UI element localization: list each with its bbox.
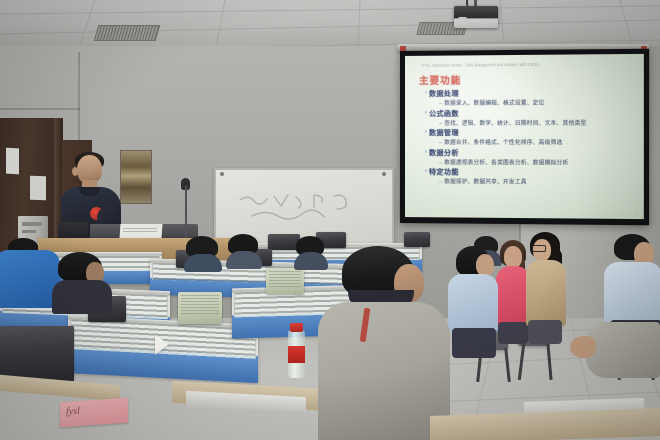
- slide-bullet-item: ›公式函数 – 查找、逻辑、数学、统计、日期时间、文本、其他类型: [425, 108, 638, 127]
- slide-header-text: SPSS Application Series · Data Managemen…: [421, 61, 633, 68]
- slide-bullet-item: ›数据分析 – 数据透视表分析、各类图表分析、数据模拟分析: [425, 148, 638, 167]
- classroom-photo: SPSS Application Series · Data Managemen…: [0, 0, 660, 440]
- torso: [604, 262, 660, 326]
- monitor: [404, 232, 430, 247]
- slide-bullet-item: ›数据管理 – 数据合并、条件格式、个性化排序、高级筛选: [425, 128, 638, 146]
- wall-art-panel: [120, 150, 152, 204]
- head: [504, 246, 522, 268]
- pc-tower-vent: [22, 222, 42, 226]
- legs: [452, 328, 496, 358]
- folded-paper: [155, 335, 169, 355]
- whiteboard-clip: [220, 172, 224, 176]
- student-blue-jacket-left: [0, 248, 60, 308]
- projection-screen: SPSS Application Series · Data Managemen…: [400, 49, 649, 226]
- monitor-screen-content: [181, 295, 219, 314]
- slide-bullet-item: ›特定功能 – 数据保护、数据共享、开发工具: [425, 167, 638, 186]
- bullet-detail: – 数据录入、数据编辑、格式设置、定位: [439, 98, 637, 107]
- slide-bullet-list: ›数据处理 – 数据录入、数据编辑、格式设置、定位 ›公式函数 – 查找、逻辑、…: [425, 88, 638, 188]
- bullet-heading: ›公式函数: [425, 108, 638, 119]
- whiteboard-writing: [234, 190, 364, 224]
- bullet-heading: ›数据管理: [425, 128, 638, 138]
- student-gray-suit-center: [320, 246, 450, 440]
- posted-notice: [6, 148, 19, 175]
- monitor-screen-content: [269, 271, 301, 287]
- monitor-powered-on[interactable]: [178, 292, 222, 324]
- whiteboard-clip: [382, 172, 386, 176]
- legs: [528, 320, 562, 344]
- bottle-label: [288, 346, 305, 363]
- sticky-note-text: fysl: [66, 406, 80, 418]
- monitor-foreground[interactable]: [0, 326, 74, 382]
- bullet-detail: – 数据保护、数据共享、开发工具: [439, 177, 637, 186]
- torso: [0, 250, 60, 308]
- slide-page-number: 1: [636, 212, 638, 216]
- torso: [52, 280, 112, 314]
- instructor-ear: [72, 167, 78, 176]
- bullet-detail: – 查找、逻辑、数学、统计、日期时间、文本、其他类型: [439, 118, 637, 126]
- ceiling-vent: [94, 25, 161, 41]
- wall-trim: [0, 108, 80, 110]
- student-front-left: [52, 252, 110, 302]
- student-back-row-a: [186, 236, 220, 266]
- student-back-row-b: [228, 234, 260, 264]
- bullet-heading: ›数据分析: [425, 148, 638, 158]
- bullet-detail: – 数据透视表分析、各类图表分析、数据模拟分析: [439, 158, 637, 167]
- monitor-powered-on[interactable]: [266, 268, 304, 294]
- bottle-cap: [290, 323, 303, 332]
- hand: [570, 336, 596, 358]
- bullet-detail: – 数据合并、条件格式、个性化排序、高级筛选: [439, 138, 637, 146]
- glasses-icon: [532, 245, 546, 252]
- projector-lens: [458, 17, 467, 24]
- presentation-slide: SPSS Application Series · Data Managemen…: [405, 54, 644, 219]
- torso: [184, 254, 222, 272]
- student-light-blue-shirt: [452, 246, 504, 356]
- head: [476, 254, 494, 276]
- podium-paper-text: [123, 228, 157, 234]
- student-arm-gray-sleeve: [586, 322, 660, 378]
- student-tan-coat-glasses: [528, 232, 572, 342]
- slide-bullet-item: ›数据处理 – 数据录入、数据编辑、格式设置、定位: [425, 88, 638, 107]
- posted-notice: [30, 176, 46, 201]
- torso: [448, 274, 498, 332]
- slide-title: 主要功能: [419, 73, 461, 87]
- torso: [226, 251, 262, 269]
- torso: [526, 260, 566, 326]
- pc-tower-drive-bay: [22, 230, 36, 233]
